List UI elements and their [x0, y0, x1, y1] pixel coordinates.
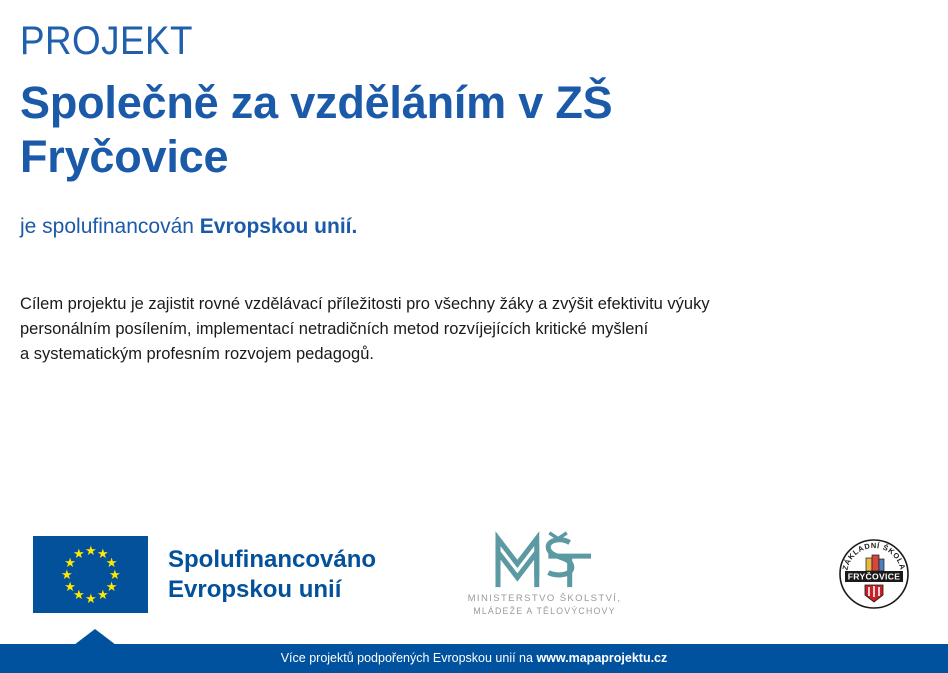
- eu-star-icon: ★: [97, 589, 108, 600]
- eu-funding-line1: Spolufinancováno: [168, 545, 376, 575]
- eu-star-icon: ★: [73, 548, 84, 559]
- footer-bar: Více projektů podpořených Evropskou unií…: [0, 644, 948, 673]
- header-block: PROJEKT Společně za vzděláním v ZŠ Fryčo…: [20, 18, 920, 240]
- page-title: Společně za vzděláním v ZŠ Fryčovice: [20, 76, 660, 184]
- subtitle: je spolufinancován Evropskou unií.: [20, 214, 920, 240]
- footer-notch: [74, 629, 116, 645]
- eu-star-icon: ★: [106, 557, 117, 568]
- logo-strip: ★★★★★★★★★★★★ Spolufinancováno Evropskou …: [0, 525, 948, 625]
- eu-star-icon: ★: [85, 593, 96, 604]
- footer-text-prefix: Více projektů podpořených Evropskou unií…: [281, 651, 537, 665]
- project-poster: PROJEKT Společně za vzděláním v ZŠ Fryčo…: [0, 0, 948, 673]
- eu-funding-text: Spolufinancováno Evropskou unií: [168, 545, 376, 605]
- msmt-caption: MINISTERSTVO ŠKOLSTVÍ, MLÁDEŽE A TĚLOVÝC…: [447, 593, 642, 617]
- school-seal-icon: ZÁKLADNÍ ŠKOLA FRYČOVICE: [838, 538, 910, 610]
- eu-star-icon: ★: [61, 569, 72, 580]
- eu-funding-logo: ★★★★★★★★★★★★ Spolufinancováno Evropskou …: [33, 536, 376, 613]
- body-line: a systematickým profesním rozvojem pedag…: [20, 342, 920, 367]
- eu-star-icon: ★: [64, 581, 75, 592]
- eu-flag-icon: ★★★★★★★★★★★★: [33, 536, 148, 613]
- footer-text: Více projektů podpořených Evropskou unií…: [0, 644, 948, 673]
- svg-text:FRYČOVICE: FRYČOVICE: [848, 571, 901, 582]
- footer-url[interactable]: www.mapaprojektu.cz: [536, 651, 667, 665]
- body-line: Cílem projektu je zajistit rovné vzděláv…: [20, 292, 920, 317]
- eu-star-icon: ★: [109, 569, 120, 580]
- msmt-monogram-icon: [447, 529, 642, 591]
- subtitle-prefix: je spolufinancován: [20, 215, 200, 238]
- eu-star-icon: ★: [85, 545, 96, 556]
- msmt-caption-line1: MINISTERSTVO ŠKOLSTVÍ,: [468, 593, 622, 604]
- body-line: personálním posílením, implementací netr…: [20, 317, 920, 342]
- school-logo: ZÁKLADNÍ ŠKOLA FRYČOVICE: [838, 538, 910, 610]
- body-paragraph: Cílem projektu je zajistit rovné vzděláv…: [20, 292, 920, 367]
- eyebrow-label: PROJEKT: [20, 18, 848, 64]
- msmt-caption-line2: MLÁDEŽE A TĚLOVÝCHOVY: [447, 605, 642, 617]
- eu-funding-line2: Evropskou unií: [168, 575, 376, 605]
- subtitle-strong: Evropskou unií.: [200, 215, 358, 238]
- msmt-logo: MINISTERSTVO ŠKOLSTVÍ, MLÁDEŽE A TĚLOVÝC…: [447, 529, 642, 617]
